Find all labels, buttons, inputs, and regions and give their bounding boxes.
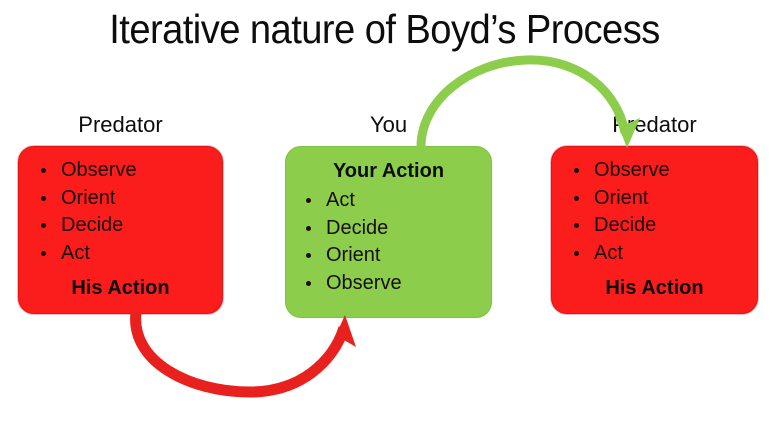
step-label: Decide — [594, 214, 656, 236]
step-label: Observe — [61, 159, 137, 181]
list-item: Act — [552, 240, 757, 268]
column-caption-you: You — [285, 112, 492, 138]
step-label: Orient — [594, 187, 648, 209]
predator-left-box[interactable]: Observe Orient Decide Act His Action — [18, 146, 223, 314]
slide-canvas: Iterative nature of Boyd’s Process Preda… — [0, 0, 769, 421]
list-item: Decide — [19, 212, 222, 240]
step-label: Decide — [61, 214, 123, 236]
bullet-icon — [41, 168, 46, 173]
list-item: Observe — [286, 270, 491, 298]
list-item: Orient — [552, 185, 757, 213]
ooda-step-list: Act Decide Orient Observe — [286, 185, 491, 297]
list-item: Orient — [19, 185, 222, 213]
step-label: Orient — [326, 244, 380, 266]
predator-right-footer: His Action — [552, 276, 757, 300]
bullet-icon — [574, 251, 579, 256]
bullet-icon — [574, 168, 579, 173]
predator-right-box[interactable]: Observe Orient Decide Act His Action — [551, 146, 758, 314]
ooda-step-list: Observe Orient Decide Act — [552, 147, 757, 267]
bullet-icon — [41, 251, 46, 256]
step-label: Decide — [326, 217, 388, 239]
page-title: Iterative nature of Boyd’s Process — [27, 6, 742, 52]
bullet-icon — [574, 223, 579, 228]
step-label: Act — [594, 242, 623, 264]
step-label: Orient — [61, 187, 115, 209]
column-caption-predator-right: Predator — [551, 112, 758, 138]
you-box-heading: Your Action — [286, 159, 491, 183]
step-label: Act — [61, 242, 90, 264]
bullet-icon — [306, 253, 311, 258]
step-label: Observe — [326, 272, 402, 294]
step-label: Observe — [594, 159, 670, 181]
predator-left-footer: His Action — [19, 276, 222, 300]
list-item: Orient — [286, 242, 491, 270]
bullet-icon — [306, 226, 311, 231]
bullet-icon — [41, 196, 46, 201]
list-item: Act — [19, 240, 222, 268]
step-label: Act — [326, 189, 355, 211]
list-item: Observe — [552, 157, 757, 185]
bullet-icon — [306, 281, 311, 286]
bullet-icon — [41, 223, 46, 228]
list-item: Decide — [286, 215, 491, 243]
list-item: Act — [286, 187, 491, 215]
list-item: Observe — [19, 157, 222, 185]
you-box[interactable]: Your Action Act Decide Orient Observe — [285, 146, 492, 318]
bullet-icon — [574, 196, 579, 201]
list-item: Decide — [552, 212, 757, 240]
column-caption-predator-left: Predator — [18, 112, 223, 138]
ooda-step-list: Observe Orient Decide Act — [19, 147, 222, 267]
arrow-his-action-to-your-action — [136, 312, 356, 392]
bullet-icon — [306, 198, 311, 203]
